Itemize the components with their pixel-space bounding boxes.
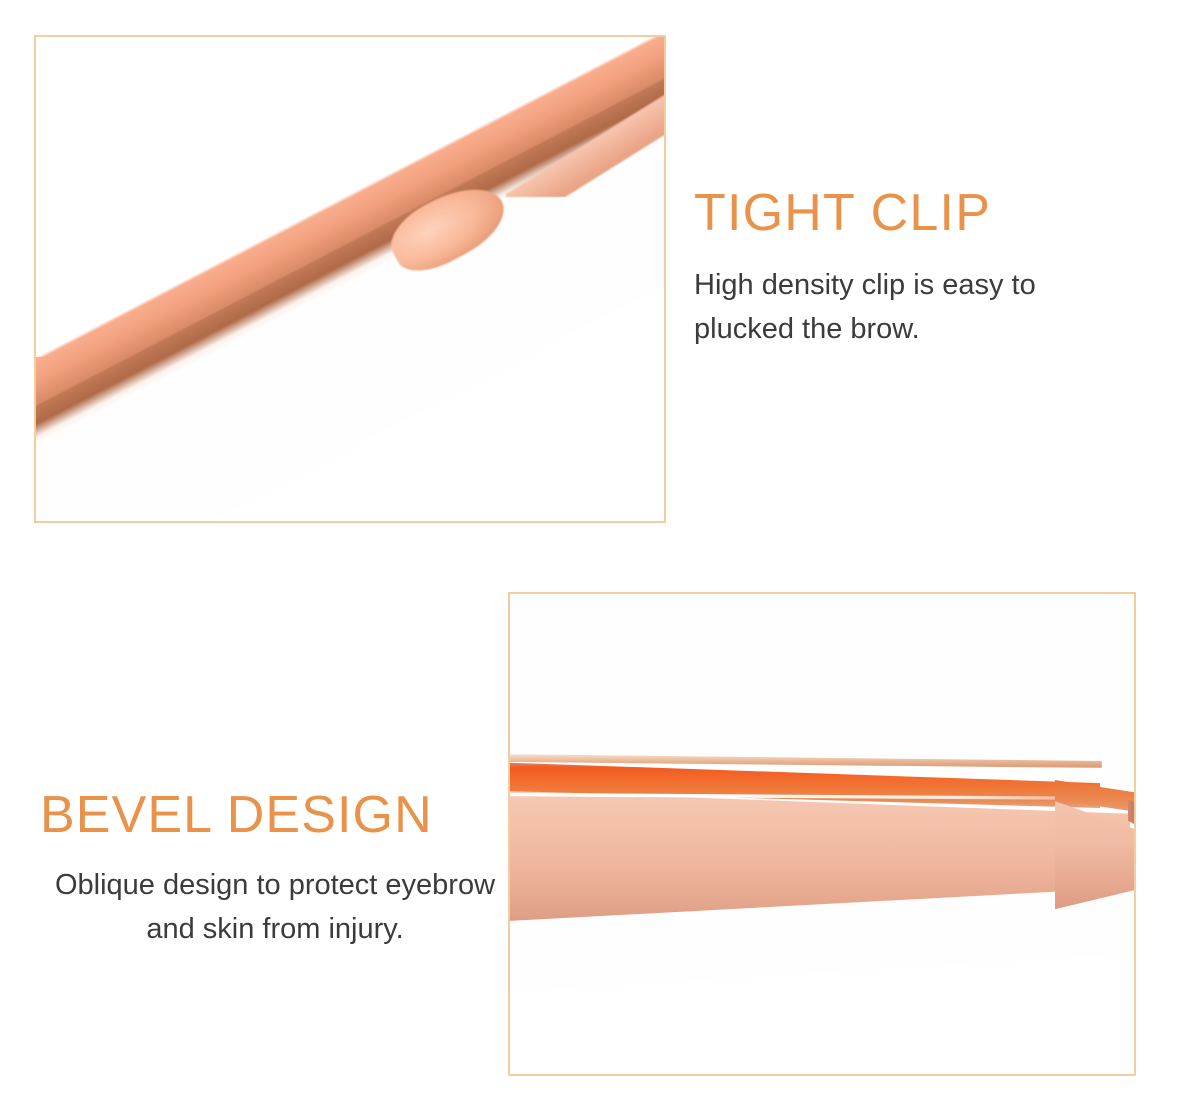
tweezer-bevel-closeup-photo xyxy=(510,594,1134,1074)
tweezer-tip-closeup-image-frame xyxy=(34,35,666,523)
tight-clip-heading: TIGHT CLIP xyxy=(694,186,1154,241)
tweezer-tip-closeup-photo xyxy=(36,37,664,521)
bevel-design-description-line-1: Oblique design to protect eyebrow xyxy=(55,869,495,901)
bevel-design-text-block: BEVEL DESIGN Oblique design to protect e… xyxy=(40,788,510,951)
tight-clip-description: High density clip is easy toplucked the … xyxy=(694,263,1140,351)
photo-background-lower xyxy=(156,187,664,521)
bevel-design-heading: BEVEL DESIGN xyxy=(40,788,510,843)
infographic-page: TIGHT CLIP High density clip is easy top… xyxy=(0,0,1179,1109)
tweezer-bevel-closeup-image-frame xyxy=(508,592,1136,1076)
tight-clip-text-block: TIGHT CLIP High density clip is easy top… xyxy=(694,186,1154,351)
bevel-design-description-line-2: and skin from injury. xyxy=(146,913,403,945)
tight-clip-description-line-2: plucked the brow. xyxy=(694,313,920,345)
tight-clip-description-line-1: High density clip is easy to xyxy=(694,269,1036,301)
photo-background-under xyxy=(510,894,1134,1074)
bevel-design-description: Oblique design to protect eyebrowand ski… xyxy=(40,863,510,951)
